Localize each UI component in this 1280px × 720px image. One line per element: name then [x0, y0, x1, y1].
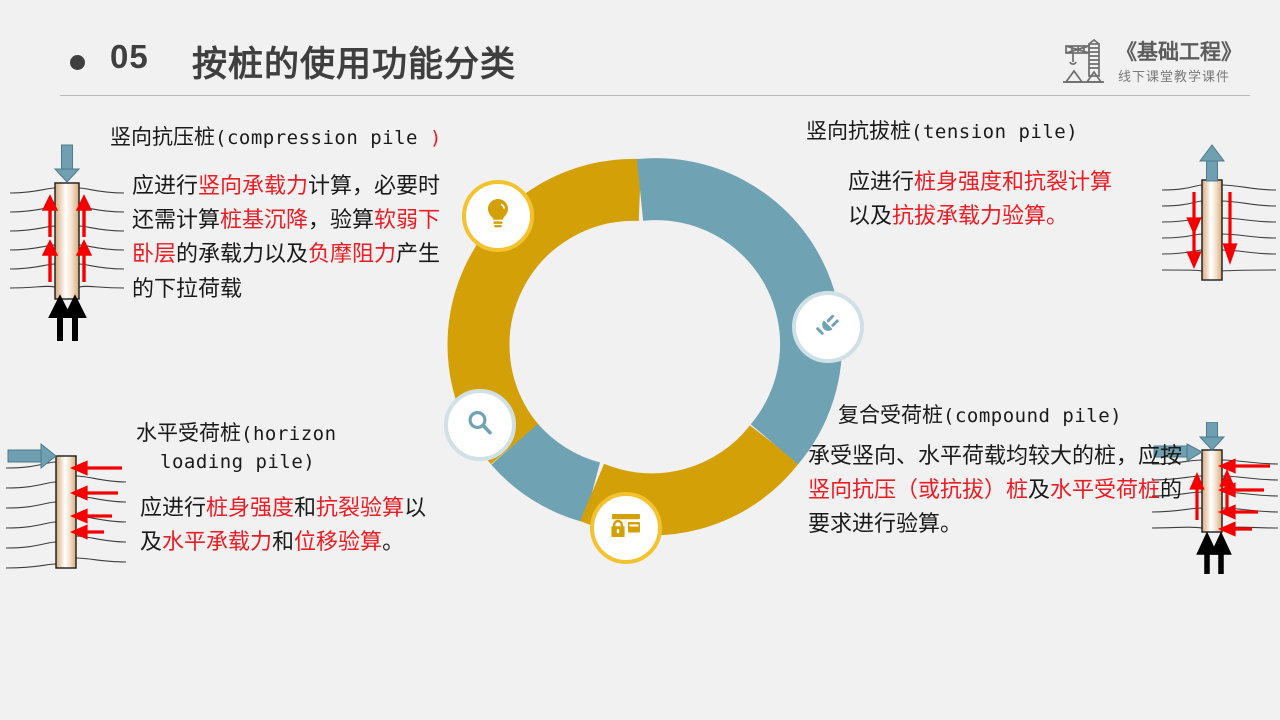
slide-root: 05 按桩的使用功能分类 [0, 0, 1280, 720]
text-run-1: 桩身强度和抗裂计算 [914, 169, 1112, 194]
text-run-2: 及 [1028, 477, 1050, 502]
horizontal-body: 应进行桩身强度和抗裂验算以及水平承载力和位移验算。 [140, 491, 430, 559]
compression-pile-diagram [8, 135, 126, 350]
search-icon [464, 407, 496, 444]
block-compression-pile: 竖向抗压桩(compression pile ) 应进行竖向承载力计算，必要时还… [110, 124, 450, 306]
text-run-0: 应进行 [132, 173, 198, 198]
plug-icon [811, 308, 845, 347]
tension-pile-diagram [1162, 138, 1278, 313]
section-number: 05 [110, 38, 149, 76]
compound-body: 承受竖向、水平荷载均较大的桩，应按竖向抗压（或抗拔）桩及水平受荷桩的要求进行验算… [808, 439, 1188, 541]
text-run-7: 负摩阻力 [308, 241, 396, 266]
horizontal-heading: 水平受荷桩(horizon loading pile) [136, 420, 436, 477]
compression-heading-en: (compression pile [215, 127, 430, 149]
badge-plug[interactable] [792, 291, 864, 363]
text-run-3: 桩基沉降 [220, 207, 308, 232]
block-tension-pile: 竖向抗拔桩(tension pile) 应进行桩身强度和抗裂计算以及抗拔承载力验… [806, 118, 1156, 233]
block-compound-pile: 复合受荷桩(compound pile) 承受竖向、水平荷载均较大的桩，应按竖向… [808, 402, 1198, 542]
horizontal-heading-en2: loading pile) [160, 451, 315, 473]
text-run-6: 的承载力以及 [176, 241, 308, 266]
tension-heading-cn: 竖向抗拔桩 [806, 120, 911, 143]
page-title: 按桩的使用功能分类 [192, 36, 516, 87]
text-run-2: 和 [294, 495, 316, 520]
horizontal-heading-en: (horizon [241, 423, 337, 445]
card-lock-icon [609, 512, 643, 545]
compound-heading: 复合受荷桩(compound pile) [838, 402, 1198, 429]
header-divider [60, 95, 1250, 96]
compound-heading-en: (compound pile) [943, 405, 1122, 427]
text-run-3: 抗拔承载力验算。 [892, 203, 1068, 228]
compression-heading-cn: 竖向抗压桩 [110, 126, 215, 149]
compression-heading: 竖向抗压桩(compression pile ) [110, 124, 450, 151]
compression-heading-en-tail: ) [430, 127, 442, 149]
horizontal-heading-cn: 水平受荷桩 [136, 422, 241, 445]
tension-body: 应进行桩身强度和抗裂计算以及抗拔承载力验算。 [848, 165, 1113, 233]
text-run-1: 竖向抗压（或抗拔）桩 [808, 477, 1028, 502]
segment-horizontal[interactable] [515, 444, 593, 492]
text-run-2: 以及 [848, 203, 892, 228]
badge-lightbulb[interactable] [462, 180, 534, 252]
text-run-8: 。 [382, 529, 404, 554]
horizontal-pile-diagram [4, 432, 128, 580]
compression-body: 应进行竖向承载力计算，必要时还需计算桩基沉降，验算软弱下卧层的承载力以及负摩阻力… [132, 169, 450, 305]
badge-card-lock[interactable] [590, 492, 662, 564]
text-run-6: 和 [272, 529, 294, 554]
text-run-3: 抗裂验算 [316, 495, 404, 520]
segment-tension[interactable] [640, 189, 811, 444]
text-run-0: 应进行 [140, 495, 206, 520]
text-run-3: 水平受荷桩 [1050, 477, 1160, 502]
bullet-dot-icon [70, 55, 85, 70]
text-run-0: 承受竖向、水平荷载均较大的桩，应按 [808, 443, 1182, 468]
logo-title: 《基础工程》 [1116, 36, 1242, 66]
compound-heading-cn: 复合受荷桩 [838, 404, 943, 427]
text-run-1: 竖向承载力 [198, 173, 308, 198]
text-run-4: ，验算 [308, 207, 374, 232]
text-run-7: 位移验算 [294, 529, 382, 554]
tension-heading-en: (tension pile) [911, 121, 1078, 143]
course-logo: 《基础工程》 线下课堂教学课件 [1060, 36, 1250, 92]
text-run-1: 桩身强度 [206, 495, 294, 520]
lightbulb-icon [483, 197, 513, 236]
badge-search[interactable] [444, 389, 516, 461]
block-horizontal-pile: 水平受荷桩(horizon loading pile) 应进行桩身强度和抗裂验算… [136, 420, 436, 559]
text-run-0: 应进行 [848, 169, 914, 194]
slide-header: 05 按桩的使用功能分类 [0, 0, 1280, 100]
tension-heading: 竖向抗拔桩(tension pile) [806, 118, 1156, 145]
crane-icon [1060, 38, 1112, 90]
text-run-5: 水平承载力 [162, 529, 272, 554]
logo-subtitle: 线下课堂教学课件 [1118, 66, 1230, 85]
